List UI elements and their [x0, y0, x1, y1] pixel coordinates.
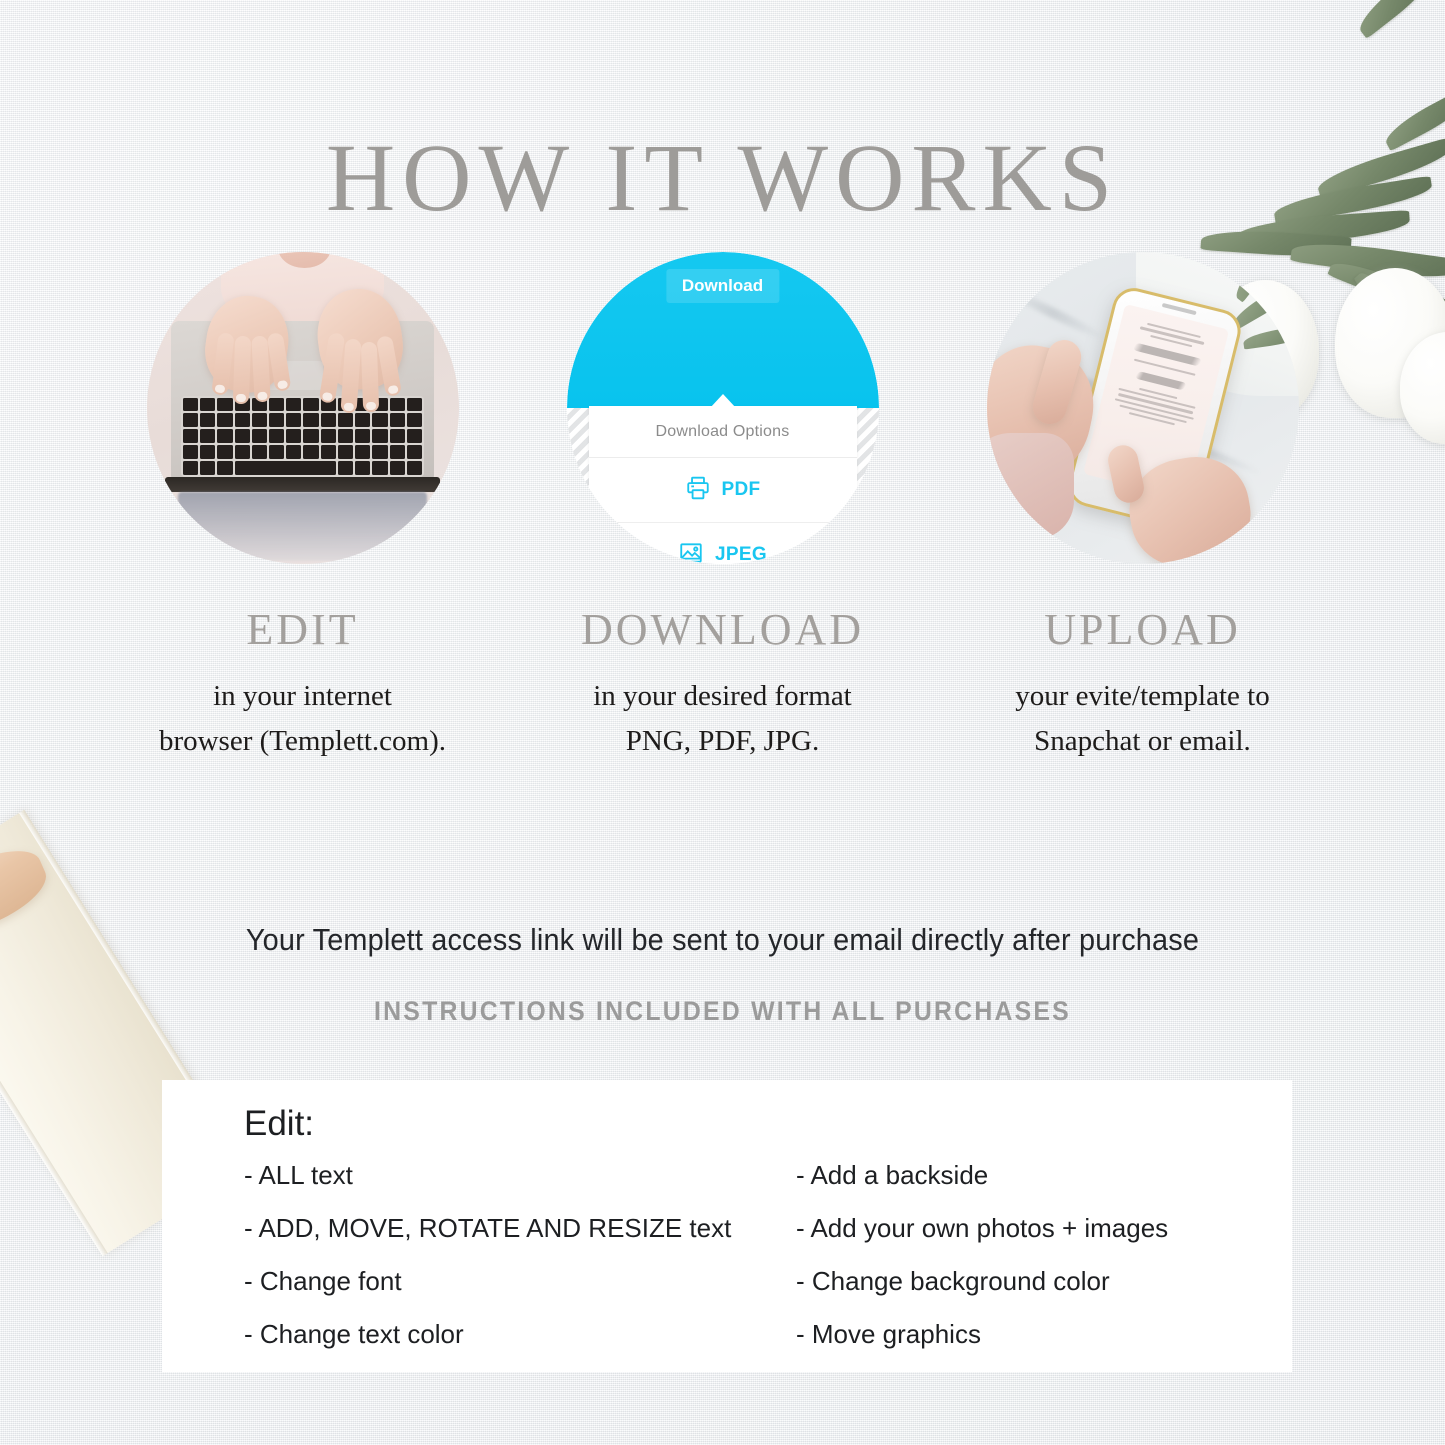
step-desc-upload-line2: Snapchat or email. [1015, 719, 1269, 764]
step-desc-edit-line2: browser (Templett.com). [159, 719, 446, 764]
step-upload: UPLOAD your evite/template to Snapchat o… [933, 252, 1353, 764]
instructions-note: INSTRUCTIONS INCLUDED WITH ALL PURCHASES [58, 996, 1387, 1027]
step-title-download: DOWNLOAD [581, 608, 864, 652]
step-desc-upload-line1: your evite/template to [1015, 674, 1269, 719]
download-button[interactable]: Download [666, 269, 779, 303]
step-desc-edit: in your internet browser (Templett.com). [159, 674, 446, 764]
step-desc-download-line2: PNG, PDF, JPG. [593, 719, 852, 764]
step-desc-upload: your evite/template to Snapchat or email… [1015, 674, 1269, 764]
step-edit: EDIT in your internet browser (Templett.… [93, 252, 513, 764]
download-options-header: Download Options [589, 406, 857, 458]
features-left-column: - ALL text - ADD, MOVE, ROTATE AND RESIZ… [244, 1160, 731, 1350]
step-desc-download-line1: in your desired format [593, 674, 852, 719]
dropdown-pointer-icon [710, 394, 736, 408]
download-widget-graphic: Download Download Options PDF [567, 252, 879, 564]
list-item: - Move graphics [796, 1319, 1168, 1350]
step-title-upload: UPLOAD [1044, 608, 1240, 652]
features-right-column: - Add a backside - Add your own photos +… [796, 1160, 1168, 1350]
page-title: HOW IT WORKS [0, 122, 1445, 233]
list-item: - Change background color [796, 1266, 1168, 1297]
step-desc-edit-line1: in your internet [159, 674, 446, 719]
list-item: - Change font [244, 1266, 731, 1297]
download-options-panel: Download Options PDF [589, 406, 857, 564]
step-desc-download: in your desired format PNG, PDF, JPG. [593, 674, 852, 764]
download-option-jpeg[interactable]: JPEG [589, 523, 857, 564]
download-option-label-jpeg: JPEG [715, 544, 767, 564]
card-title: Edit: [244, 1104, 314, 1144]
step-title-edit: EDIT [246, 608, 358, 652]
step-download: Download Download Options PDF [513, 252, 933, 764]
list-item: - Change text color [244, 1319, 731, 1350]
download-option-pdf[interactable]: PDF [589, 458, 857, 523]
download-option-label-pdf: PDF [722, 479, 761, 501]
steps-row: EDIT in your internet browser (Templett.… [0, 252, 1445, 764]
list-item: - ALL text [244, 1160, 731, 1191]
list-item: - Add your own photos + images [796, 1213, 1168, 1244]
edit-features-card: Edit: - ALL text - ADD, MOVE, ROTATE AND… [162, 1080, 1292, 1372]
phone-photo [987, 252, 1299, 564]
laptop-photo [147, 252, 459, 564]
printer-icon [685, 475, 711, 506]
list-item: - Add a backside [796, 1160, 1168, 1191]
image-icon [678, 540, 704, 565]
access-link-note: Your Templett access link will be sent t… [51, 922, 1395, 958]
list-item: - ADD, MOVE, ROTATE AND RESIZE text [244, 1213, 731, 1244]
